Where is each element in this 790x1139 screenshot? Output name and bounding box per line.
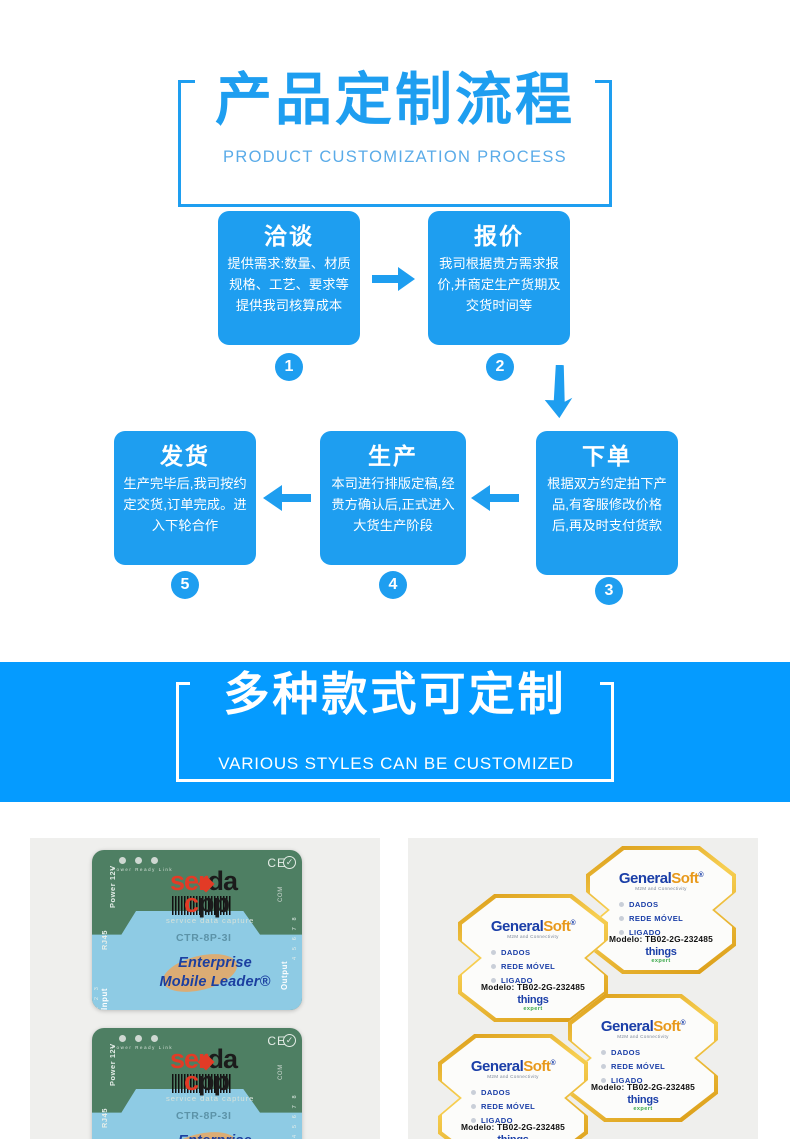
- bullet-icon: [601, 1050, 606, 1055]
- flow-step-2-title: 报价: [436, 221, 562, 251]
- gs-item-label: REDE MÓVEL: [611, 1062, 665, 1071]
- serda-product-line1: Enterprise: [178, 1133, 252, 1139]
- serda-led-group: [119, 857, 158, 864]
- gs-footer-brand-name: things: [497, 1135, 528, 1139]
- gs-footer-brand-sub: expert: [627, 1106, 658, 1112]
- gs-model: Modelo: TB02-2G-232485: [481, 982, 585, 992]
- gs-logo-part1: General: [471, 1058, 523, 1075]
- serda-product-line1: Enterprise: [178, 955, 252, 971]
- serda-input-nums: 1 2 3: [94, 985, 100, 1010]
- gs-slogan: M2M and Connectivity: [507, 934, 558, 939]
- flow-step-5-number: 5: [171, 571, 199, 599]
- flow-step-3-box[interactable]: 下单 根据双方约定拍下产品,有客服修改价格后,再及时支付货款: [536, 431, 678, 575]
- flow-step-5-title: 发货: [122, 441, 248, 471]
- list-item: DADOS: [491, 948, 555, 957]
- led-power-icon: [119, 1035, 126, 1042]
- generalsoft-logo: GeneralSoft®: [619, 870, 703, 887]
- gs-model: Modelo: TB02-2G-232485: [461, 1122, 565, 1132]
- generalsoft-logo: GeneralSoft®: [471, 1058, 555, 1075]
- styles-banner-section: 多种款式可定制 VARIOUS STYLES CAN BE CUSTOMIZED: [0, 662, 790, 802]
- list-item: DADOS: [619, 900, 683, 909]
- bullet-icon: [619, 902, 624, 907]
- serda-input-label: Input: [100, 988, 109, 1010]
- gs-item-label: DADOS: [629, 900, 658, 909]
- serda-com-label: COM: [278, 886, 284, 902]
- gs-model: Modelo: TB02-2G-232485: [609, 934, 713, 944]
- gs-item-label: DADOS: [501, 948, 530, 957]
- serda-brand-part4: pp: [198, 1066, 229, 1096]
- gs-logo-registered: ®: [680, 1020, 685, 1027]
- serda-label-1: Power Ready Link CE ✓ serda cpp service …: [92, 850, 302, 1010]
- gs-item-label: DADOS: [481, 1088, 510, 1097]
- led-power-icon: [119, 857, 126, 864]
- led-ready-icon: [135, 1035, 142, 1042]
- serda-brand-line2: cpp: [184, 1068, 229, 1094]
- generalsoft-logo: GeneralSoft®: [601, 1018, 685, 1035]
- flow-step-1-box[interactable]: 洽谈 提供需求:数量、材质规格、工艺、要求等提供我司核算成本: [218, 211, 360, 345]
- gs-logo-part1: General: [491, 918, 543, 935]
- banner-title-container: 多种款式可定制: [190, 662, 600, 726]
- led-link-icon: [151, 857, 158, 864]
- arrow-left-icon-1: [470, 483, 520, 518]
- flow-step-1-title: 洽谈: [226, 221, 352, 251]
- page-subtitle: PRODUCT CUSTOMIZATION PROCESS: [215, 148, 575, 167]
- flow-step-2-desc: 我司根据贵方需求报价,并商定生产货期及交货时间等: [436, 253, 562, 316]
- generalsoft-label-photo[interactable]: GeneralSoft® M2M and Connectivity DADOS …: [408, 838, 758, 1139]
- product-customization-page: 产品定制流程 PRODUCT CUSTOMIZATION PROCESS 洽谈 …: [0, 0, 790, 1139]
- list-item: REDE MÓVEL: [491, 962, 555, 971]
- flow-step-5-box[interactable]: 发货 生产完毕后,我司按约定交货,订单完成。进入下轮合作: [114, 431, 256, 565]
- generalsoft-label-3: GeneralSoft® M2M and Connectivity DADOS …: [438, 1034, 588, 1139]
- gs-slogan: M2M and Connectivity: [617, 1034, 668, 1039]
- flow-step-2-number: 2: [486, 353, 514, 381]
- list-item: DADOS: [601, 1048, 665, 1057]
- gs-footer-brand: things expert: [517, 995, 548, 1012]
- led-link-icon: [151, 1035, 158, 1042]
- serda-product-name: Enterprise Mobile Leader®: [140, 1132, 290, 1139]
- flow-step-4-title: 生产: [328, 441, 458, 471]
- gs-footer-brand-name: things: [517, 995, 548, 1006]
- flow-step-4-box[interactable]: 生产 本司进行排版定稿,经贵方确认后,正式进入大货生产阶段: [320, 431, 466, 565]
- list-item: REDE MÓVEL: [601, 1062, 665, 1071]
- check-mark-icon: ✓: [283, 1034, 296, 1047]
- arrow-right-icon: [372, 265, 416, 298]
- check-mark-icon: ✓: [283, 856, 296, 869]
- serda-label-photo[interactable]: Power Ready Link CE ✓ serda cpp service …: [30, 838, 380, 1139]
- bullet-icon: [601, 1064, 606, 1069]
- flow-step-3-number: 3: [595, 577, 623, 605]
- generalsoft-logo: GeneralSoft®: [491, 918, 575, 935]
- arrow-left-icon-2: [262, 483, 312, 518]
- serda-brand-line2: cpp: [184, 890, 229, 916]
- gs-logo-part2: Soft: [671, 870, 698, 887]
- serda-model: CTR-8P-3I: [176, 932, 232, 944]
- product-photos-section: Power Ready Link CE ✓ serda cpp service …: [0, 838, 790, 1139]
- gs-logo-registered: ®: [698, 872, 703, 879]
- gs-logo-registered: ®: [550, 1060, 555, 1067]
- serda-tagline: service data capture: [166, 916, 254, 925]
- serda-tagline: service data capture: [166, 1094, 254, 1103]
- serda-output-nums: 4 5 6 7 8: [292, 1093, 298, 1138]
- gs-logo-part1: General: [601, 1018, 653, 1035]
- bullet-icon: [471, 1090, 476, 1095]
- serda-rj45-label: RJ45: [100, 930, 109, 950]
- flow-step-3-title: 下单: [544, 441, 670, 471]
- bullet-icon: [471, 1104, 476, 1109]
- gs-logo-part1: General: [619, 870, 671, 887]
- banner-title: 多种款式可定制: [190, 662, 600, 726]
- serda-registered: ®: [260, 974, 271, 990]
- process-flow-diagram: 洽谈 提供需求:数量、材质规格、工艺、要求等提供我司核算成本 1 报价 我司根据…: [0, 205, 790, 625]
- generalsoft-label-2: GeneralSoft® M2M and Connectivity DADOS …: [586, 846, 736, 974]
- list-item: REDE MÓVEL: [619, 914, 683, 923]
- gs-footer-brand-sub: expert: [645, 958, 676, 964]
- serda-led-group: [119, 1035, 158, 1042]
- flow-step-5-desc: 生产完毕后,我司按约定交货,订单完成。进入下轮合作: [122, 473, 248, 536]
- flow-step-4-desc: 本司进行排版定稿,经贵方确认后,正式进入大货生产阶段: [328, 473, 458, 536]
- serda-power-label: Power 12V: [108, 865, 117, 908]
- list-item: REDE MÓVEL: [471, 1102, 535, 1111]
- page-title-container: 产品定制流程: [195, 63, 595, 137]
- flow-step-1-number: 1: [275, 353, 303, 381]
- serda-com-label: COM: [278, 1064, 284, 1080]
- gs-footer-brand-name: things: [645, 947, 676, 958]
- serda-product-line2: Mobile Leader: [160, 974, 260, 990]
- serda-power-label: Power 12V: [108, 1043, 117, 1086]
- gs-footer-brand: things expert: [627, 1095, 658, 1112]
- serda-brand-part3: c: [184, 1066, 198, 1096]
- flow-step-3-desc: 根据双方约定拍下产品,有客服修改价格后,再及时支付货款: [544, 473, 670, 536]
- gs-item-label: REDE MÓVEL: [481, 1102, 535, 1111]
- serda-label-2: Power Ready Link CE ✓ serda cpp service …: [92, 1028, 302, 1139]
- serda-led-labels: Power Ready Link: [112, 1045, 173, 1050]
- page-title: 产品定制流程: [195, 63, 595, 137]
- flow-step-4-number: 4: [379, 571, 407, 599]
- gs-item-label: REDE MÓVEL: [501, 962, 555, 971]
- gs-model: Modelo: TB02-2G-232485: [591, 1082, 695, 1092]
- process-header-section: 产品定制流程 PRODUCT CUSTOMIZATION PROCESS: [0, 58, 790, 178]
- gs-slogan: M2M and Connectivity: [487, 1074, 538, 1079]
- generalsoft-label-4: GeneralSoft® M2M and Connectivity DADOS …: [568, 994, 718, 1122]
- gs-footer-brand: things expert: [497, 1135, 528, 1139]
- gs-footer-brand: things expert: [645, 947, 676, 964]
- list-item: DADOS: [471, 1088, 535, 1097]
- gs-footer-brand-name: things: [627, 1095, 658, 1106]
- gs-logo-registered: ®: [570, 920, 575, 927]
- flow-step-2-box[interactable]: 报价 我司根据贵方需求报价,并商定生产货期及交货时间等: [428, 211, 570, 345]
- serda-brand-part3: c: [184, 888, 198, 918]
- gs-logo-part2: Soft: [653, 1018, 680, 1035]
- serda-rj45-label: RJ45: [100, 1108, 109, 1128]
- gs-slogan: M2M and Connectivity: [635, 886, 686, 891]
- serda-brand-part4: pp: [198, 888, 229, 918]
- banner-subtitle-container: VARIOUS STYLES CAN BE CUSTOMIZED: [196, 754, 596, 774]
- gs-item-label: DADOS: [611, 1048, 640, 1057]
- serda-product-name: Enterprise Mobile Leader®: [140, 954, 290, 992]
- bullet-icon: [491, 950, 496, 955]
- banner-subtitle: VARIOUS STYLES CAN BE CUSTOMIZED: [196, 754, 596, 774]
- serda-output-nums: 4 5 6 7 8: [292, 915, 298, 960]
- gs-footer-brand-sub: expert: [517, 1006, 548, 1012]
- serda-led-labels: Power Ready Link: [112, 867, 173, 872]
- led-ready-icon: [135, 857, 142, 864]
- arrow-down-icon: [540, 365, 580, 424]
- gs-item-label: REDE MÓVEL: [629, 914, 683, 923]
- gs-logo-part2: Soft: [523, 1058, 550, 1075]
- page-subtitle-container: PRODUCT CUSTOMIZATION PROCESS: [215, 148, 575, 167]
- bullet-icon: [491, 964, 496, 969]
- flow-step-1-desc: 提供需求:数量、材质规格、工艺、要求等提供我司核算成本: [226, 253, 352, 316]
- bullet-icon: [619, 916, 624, 921]
- generalsoft-label-1: GeneralSoft® M2M and Connectivity DADOS …: [458, 894, 608, 1022]
- serda-model: CTR-8P-3I: [176, 1110, 232, 1122]
- gs-logo-part2: Soft: [543, 918, 570, 935]
